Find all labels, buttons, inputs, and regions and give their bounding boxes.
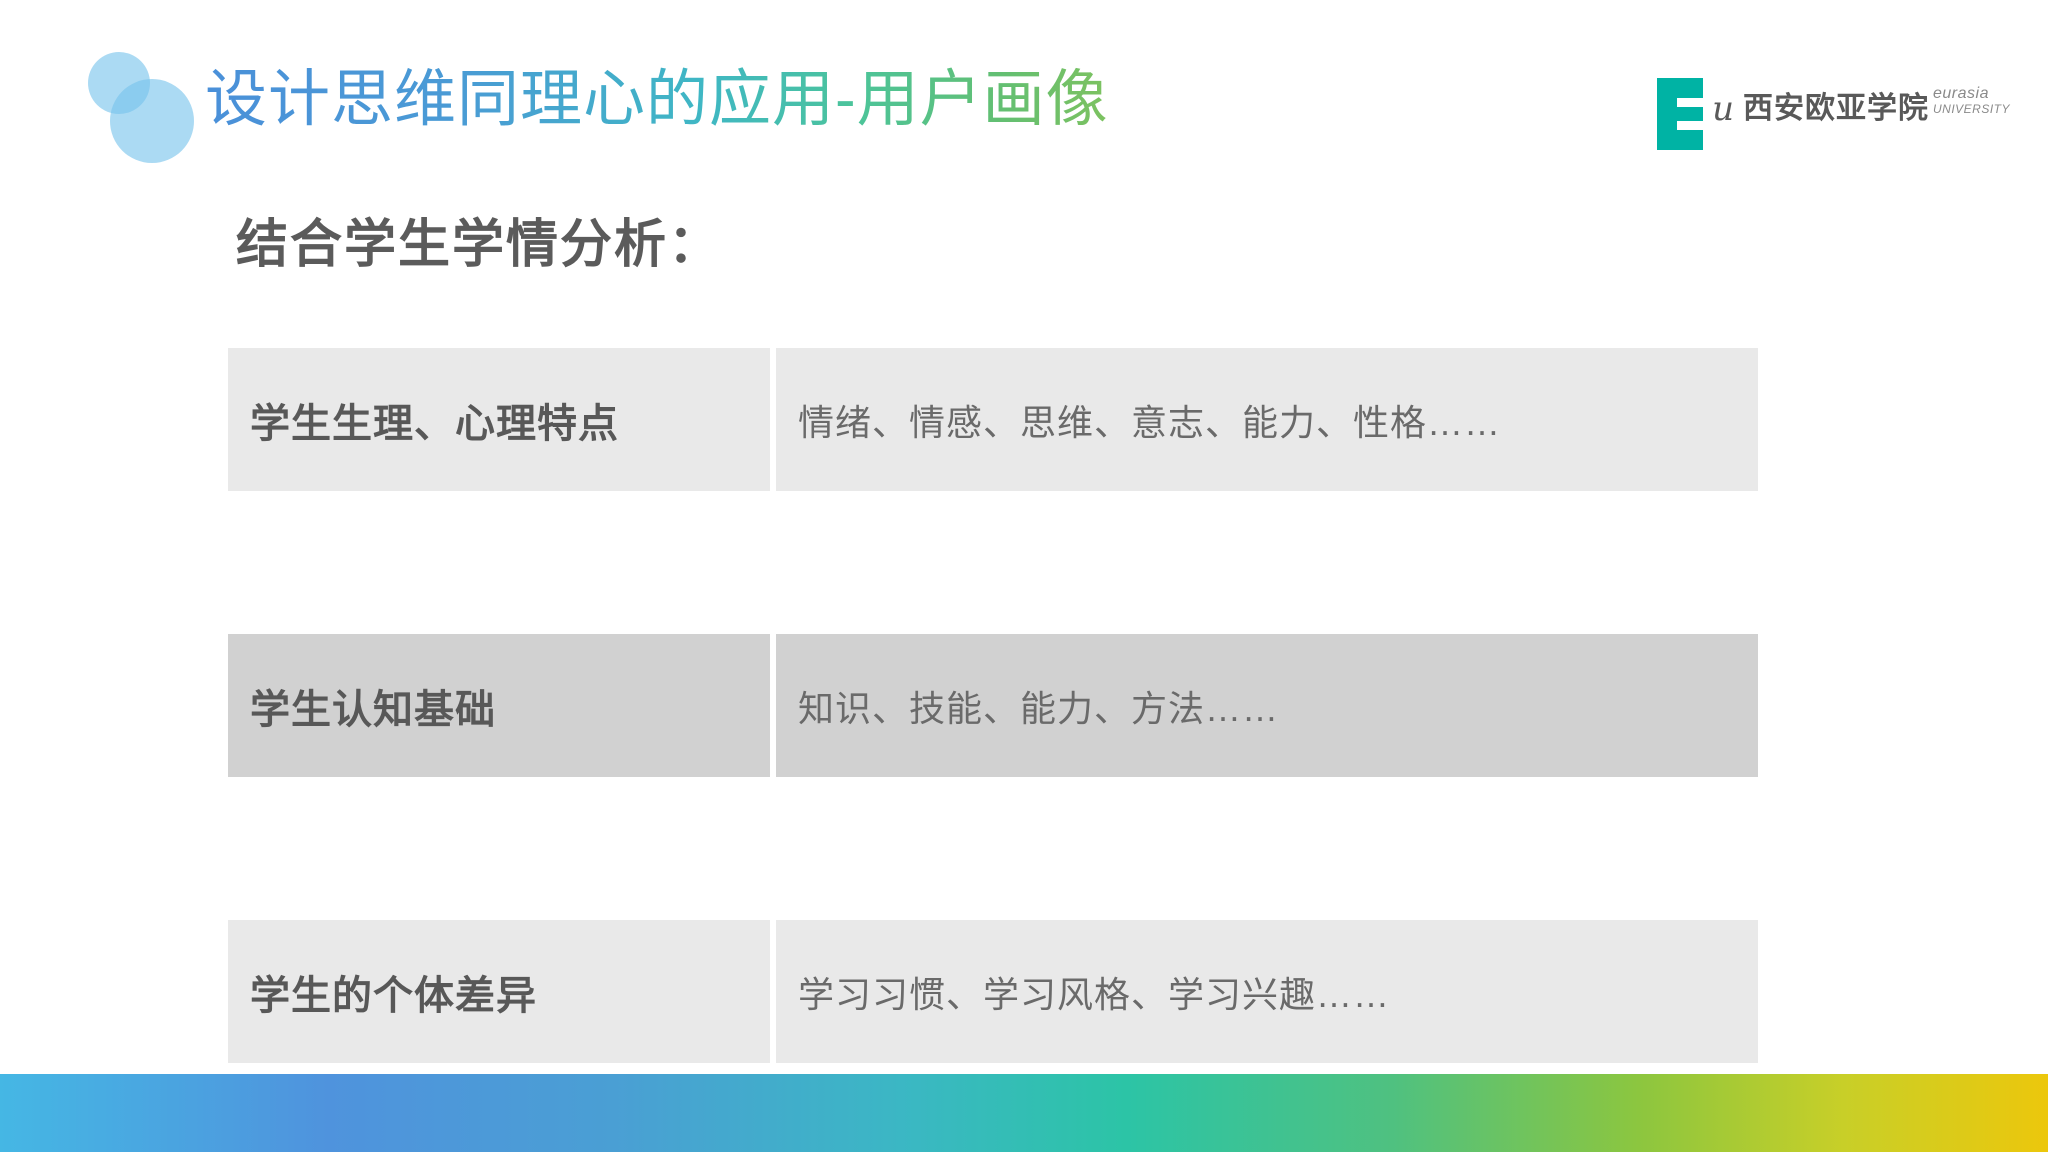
footer-gradient-bar [0,1074,2048,1152]
table-row: 学生生理、心理特点 情绪、情感、思维、意志、能力、性格…… [228,348,1758,491]
decorative-circles [88,52,208,164]
student-analysis-table: 学生生理、心理特点 情绪、情感、思维、意志、能力、性格…… 学生认知基础 知识、… [228,348,1758,1152]
table-cell-key: 学生生理、心理特点 [228,348,770,491]
table-cell-value: 知识、技能、能力、方法…… [776,634,1758,777]
logo-name-cn: 西安欧亚学院 [1743,94,1929,124]
logo-name-en-bottom: UNIVERSITY [1933,103,2010,116]
page-title: 设计思维同理心的应用-用户画像 [205,52,1109,148]
table-row-divider [228,491,1758,634]
table-row-divider [228,777,1758,920]
slide-canvas: 设计思维同理心的应用-用户画像 u 西安欧亚学院 eurasia UNIVERS… [0,0,2048,1152]
table-row: 学生认知基础 知识、技能、能力、方法…… [228,634,1758,777]
table-row-divider-cell [228,777,770,920]
table-cell-key: 学生的个体差异 [228,920,770,1063]
logo-e-mark-icon [1657,78,1703,150]
logo-script-u: u [1712,92,1734,126]
table-row-divider-cell [776,777,1758,920]
circle-large-icon [110,79,194,163]
section-subtitle: 结合学生学情分析： [236,202,722,277]
logo-name-en: eurasia UNIVERSITY [1933,86,2010,115]
table-cell-key: 学生认知基础 [228,634,770,777]
logo-name-en-top: eurasia [1933,86,2010,103]
table-cell-value: 学习习惯、学习风格、学习兴趣…… [776,920,1758,1063]
table-cell-value: 情绪、情感、思维、意志、能力、性格…… [776,348,1758,491]
table-row-divider-cell [228,491,770,634]
table-row: 学生的个体差异 学习习惯、学习风格、学习兴趣…… [228,920,1758,1063]
table-row-divider-cell [776,491,1758,634]
university-logo: u 西安欧亚学院 eurasia UNIVERSITY [1657,78,2010,152]
